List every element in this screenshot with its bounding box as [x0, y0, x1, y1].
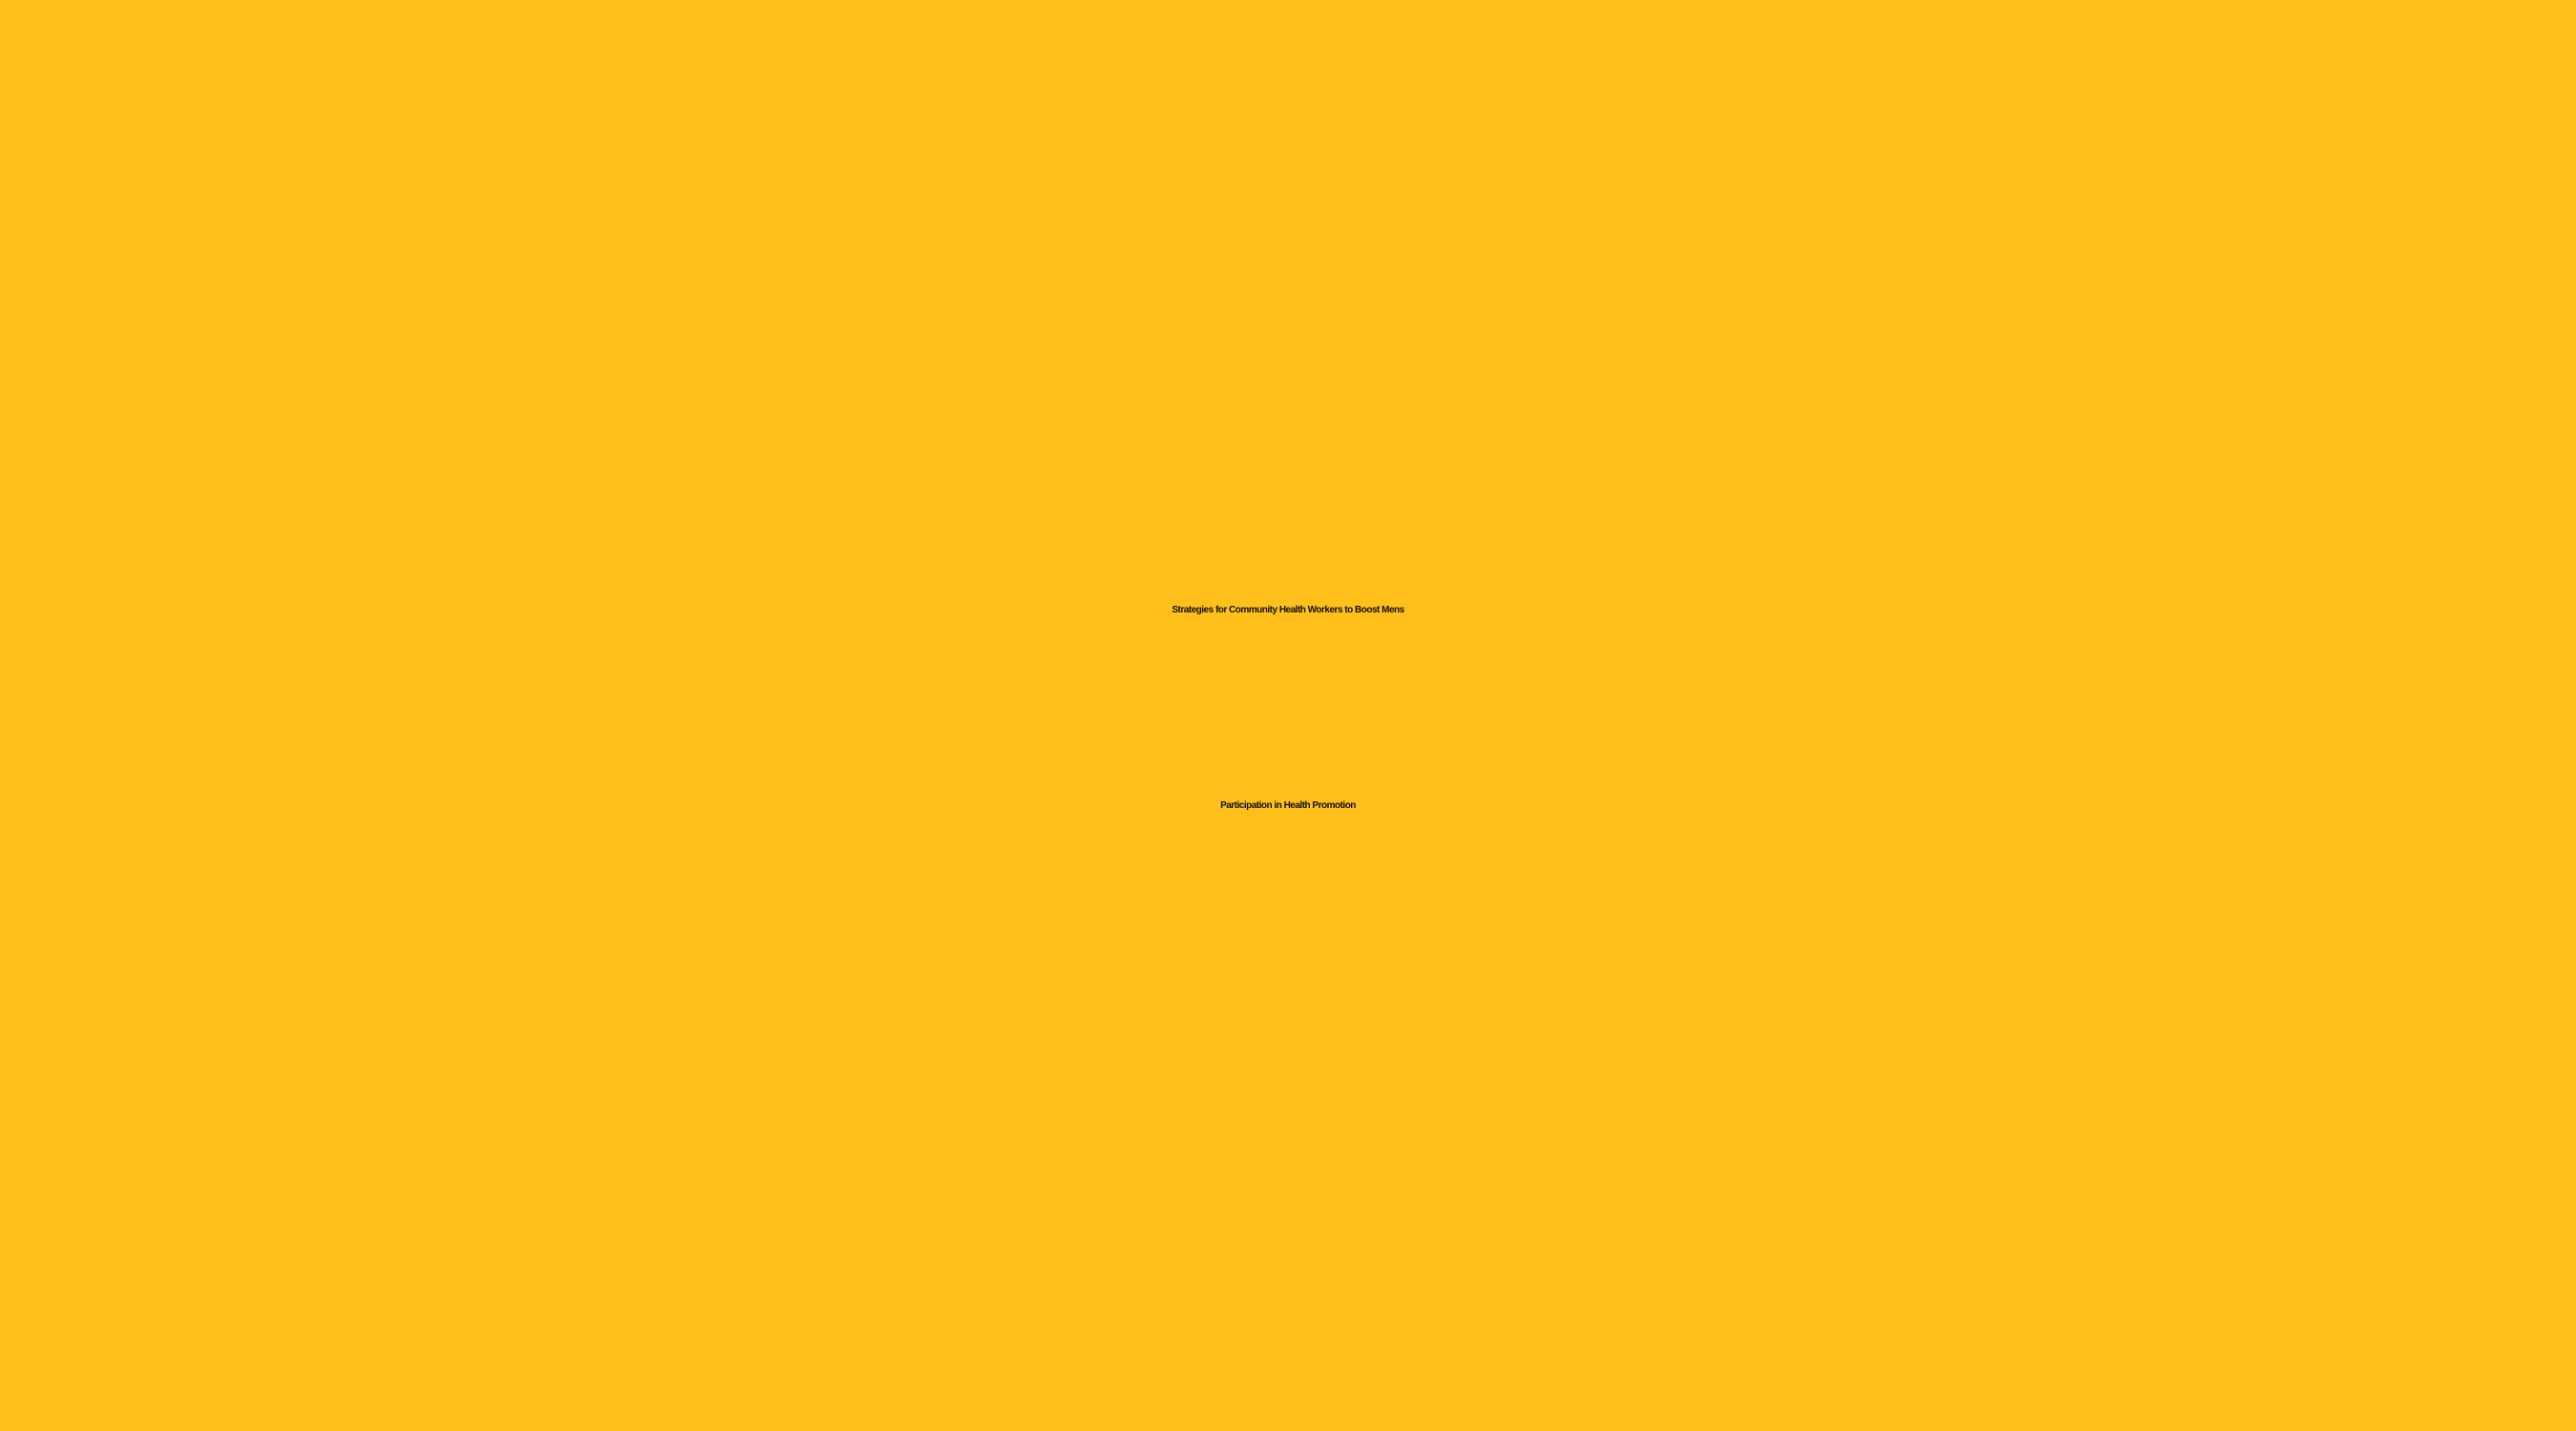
title-line-1: Strategies for Community Health Workers … [0, 512, 2576, 708]
title-slide: Strategies for Community Health Workers … [0, 0, 2576, 1431]
page-title: Strategies for Community Health Workers … [0, 512, 2576, 903]
title-line-2: Participation in Health Promotion [0, 708, 2576, 903]
